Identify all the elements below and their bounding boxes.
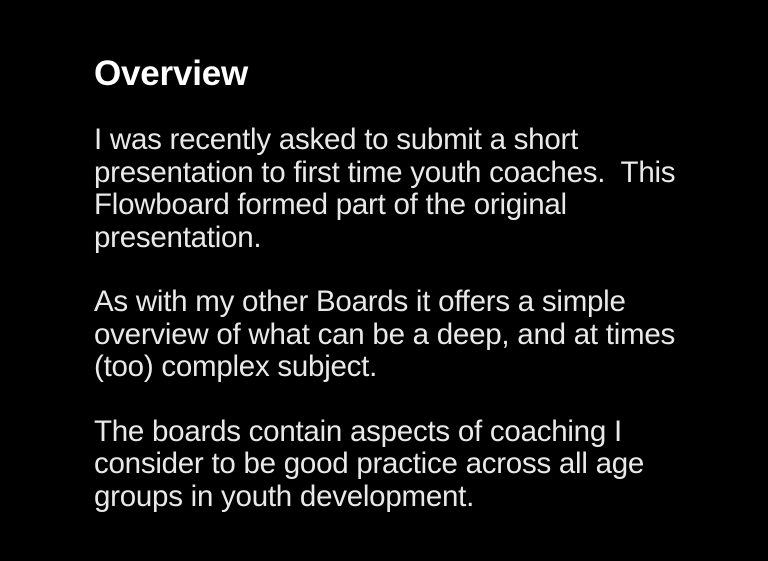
- body-paragraph-intro: I was recently asked to submit a short p…: [94, 124, 719, 254]
- presentation-slide: Overview I was recently asked to submit …: [0, 0, 768, 561]
- body-paragraph-practice: The boards contain aspects of coaching I…: [94, 416, 719, 514]
- body-paragraph-overview: As with my other Boards it offers a simp…: [94, 286, 719, 384]
- slide-title: Overview: [94, 52, 719, 96]
- slide-content: Overview I was recently asked to submit …: [94, 52, 719, 513]
- slide-body: I was recently asked to submit a short p…: [94, 124, 719, 513]
